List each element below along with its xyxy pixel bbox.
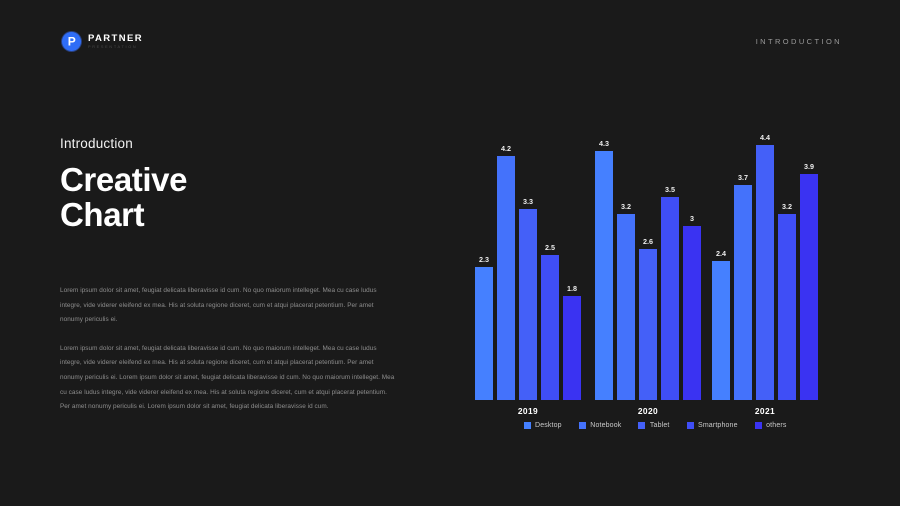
bar-value-label: 4.3	[599, 139, 609, 148]
paragraph-2: Lorem ipsum dolor sit amet, feugiat deli…	[60, 342, 395, 415]
eyebrow-text: Introduction	[60, 136, 395, 151]
legend-label: others	[766, 422, 786, 429]
legend-item-tablet[interactable]: Tablet	[638, 422, 669, 429]
bar-value-label: 3.7	[738, 173, 748, 182]
bar-value-label: 3.2	[621, 202, 631, 211]
page-title: Creative Chart	[60, 162, 395, 232]
bar-rect[interactable]	[683, 226, 701, 400]
bar-value-label: 2.6	[643, 237, 653, 246]
bar-notebook-2020[interactable]: 3.2	[617, 110, 635, 400]
brand-logo[interactable]: P PARTNER PRESENTATION	[62, 32, 143, 51]
bar-value-label: 3.2	[782, 202, 792, 211]
bar-value-label: 3.3	[523, 197, 533, 206]
bar-rect[interactable]	[734, 185, 752, 400]
bar-value-label: 4.4	[760, 133, 770, 142]
bar-chart: 2.34.23.32.51.84.33.22.63.532.43.74.43.2…	[455, 110, 855, 440]
bar-value-label: 3	[690, 214, 694, 223]
bar-desktop-2019[interactable]: 2.3	[475, 110, 493, 400]
bar-rect[interactable]	[756, 145, 774, 400]
bar-rect[interactable]	[639, 249, 657, 400]
bar-notebook-2021[interactable]: 3.7	[734, 110, 752, 400]
logo-text-block: PARTNER PRESENTATION	[88, 33, 143, 50]
legend-item-others[interactable]: others	[755, 422, 787, 429]
legend-item-desktop[interactable]: Desktop	[524, 422, 562, 429]
legend-label: Smartphone	[698, 422, 738, 429]
bar-value-label: 3.9	[804, 162, 814, 171]
bar-others-2021[interactable]: 3.9	[800, 110, 818, 400]
bar-others-2020[interactable]: 3	[683, 110, 701, 400]
legend-item-notebook[interactable]: Notebook	[579, 422, 622, 429]
bar-rect[interactable]	[778, 214, 796, 400]
legend-label: Notebook	[590, 422, 621, 429]
logo-circle-icon: P	[62, 32, 81, 51]
body-copy: Lorem ipsum dolor sit amet, feugiat deli…	[60, 284, 395, 415]
legend-label: Tablet	[650, 422, 670, 429]
bar-rect[interactable]	[563, 296, 581, 400]
slide: P PARTNER PRESENTATION INTRODUCTION Intr…	[0, 0, 900, 506]
legend-swatch-icon	[687, 422, 694, 429]
bar-value-label: 2.4	[716, 249, 726, 258]
bar-tablet-2019[interactable]: 3.3	[519, 110, 537, 400]
bar-smartphone-2019[interactable]: 2.5	[541, 110, 559, 400]
legend-item-smartphone[interactable]: Smartphone	[687, 422, 738, 429]
bar-rect[interactable]	[595, 151, 613, 400]
bar-smartphone-2020[interactable]: 3.5	[661, 110, 679, 400]
bar-group-2019: 2.34.23.32.51.8	[475, 110, 581, 400]
logo-name: PARTNER	[88, 33, 143, 44]
paragraph-1: Lorem ipsum dolor sit amet, feugiat deli…	[60, 284, 395, 328]
bar-tablet-2020[interactable]: 2.6	[639, 110, 657, 400]
bar-rect[interactable]	[475, 267, 493, 400]
title-line-1: Creative	[60, 161, 187, 198]
legend-swatch-icon	[524, 422, 531, 429]
legend-swatch-icon	[638, 422, 645, 429]
legend-swatch-icon	[579, 422, 586, 429]
chart-plot-area: 2.34.23.32.51.84.33.22.63.532.43.74.43.2…	[455, 110, 855, 400]
bar-value-label: 2.5	[545, 243, 555, 252]
section-label: INTRODUCTION	[756, 37, 842, 46]
title-line-2: Chart	[60, 196, 144, 233]
x-axis-label-2020: 2020	[595, 406, 701, 416]
x-axis-label-2019: 2019	[475, 406, 581, 416]
slide-header: P PARTNER PRESENTATION INTRODUCTION	[0, 30, 900, 58]
legend-label: Desktop	[535, 422, 562, 429]
logo-subtitle: PRESENTATION	[88, 44, 143, 50]
bar-group-2021: 2.43.74.43.23.9	[712, 110, 818, 400]
bar-rect[interactable]	[519, 209, 537, 400]
bar-desktop-2020[interactable]: 4.3	[595, 110, 613, 400]
bar-rect[interactable]	[617, 214, 635, 400]
bar-tablet-2021[interactable]: 4.4	[756, 110, 774, 400]
bar-rect[interactable]	[712, 261, 730, 400]
bar-notebook-2019[interactable]: 4.2	[497, 110, 515, 400]
bar-rect[interactable]	[497, 156, 515, 400]
bar-value-label: 4.2	[501, 144, 511, 153]
bar-rect[interactable]	[541, 255, 559, 400]
bar-desktop-2021[interactable]: 2.4	[712, 110, 730, 400]
chart-legend: DesktopNotebookTabletSmartphoneothers	[455, 422, 855, 429]
bar-group-2020: 4.33.22.63.53	[595, 110, 701, 400]
legend-swatch-icon	[755, 422, 762, 429]
logo-monogram: P	[68, 35, 76, 47]
bar-others-2019[interactable]: 1.8	[563, 110, 581, 400]
bar-rect[interactable]	[661, 197, 679, 400]
bar-smartphone-2021[interactable]: 3.2	[778, 110, 796, 400]
bar-rect[interactable]	[800, 174, 818, 400]
left-content-column: Introduction Creative Chart Lorem ipsum …	[60, 136, 395, 415]
bar-value-label: 2.3	[479, 255, 489, 264]
x-axis-label-2021: 2021	[712, 406, 818, 416]
bar-value-label: 1.8	[567, 284, 577, 293]
bar-value-label: 3.5	[665, 185, 675, 194]
